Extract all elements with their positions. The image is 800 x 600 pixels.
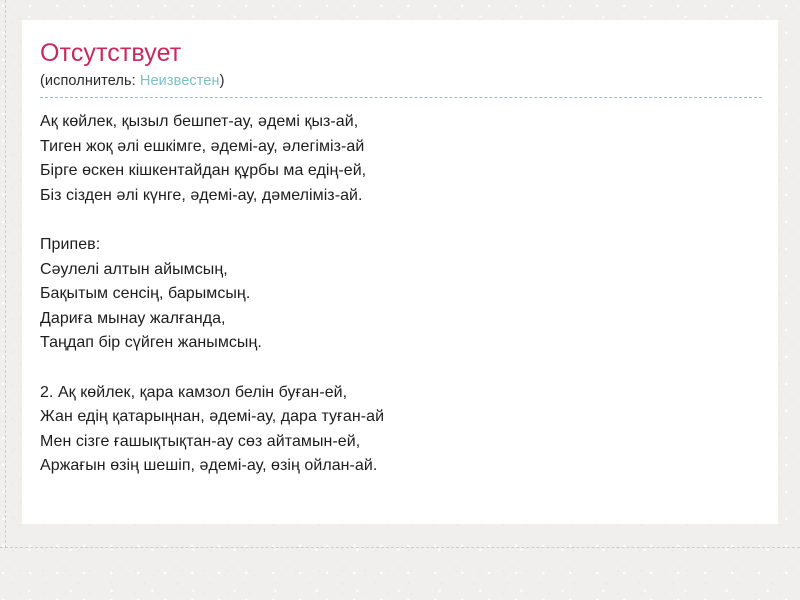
lyric-line: 2. Ақ көйлек, қара камзол белін буған-ей…	[40, 381, 760, 406]
lyric-line: Аржағын өзің шешіп, әдемі-ау, өзің ойлан…	[40, 454, 760, 479]
lyric-line: Бірге өскен кішкентайдан құрбы ма едің-е…	[40, 159, 760, 184]
lyric-line: Мен сізге ғашықтықтан-ау сөз айтамын-ей,	[40, 430, 760, 455]
lyrics-stanza-verse-2: 2. Ақ көйлек, қара камзол белін буған-ей…	[40, 381, 760, 479]
artist-link[interactable]: Неизвестен	[140, 73, 220, 89]
guide-line-bottom	[0, 547, 800, 548]
artist-label: (исполнитель:	[40, 73, 140, 89]
guide-line-left	[5, 0, 6, 548]
song-card-content: Отсутствует (исполнитель: Неизвестен) Ақ…	[40, 39, 760, 479]
song-card: Отсутствует (исполнитель: Неизвестен) Ақ…	[22, 20, 778, 524]
lyric-line: Припев:	[40, 233, 760, 258]
stanza-gap	[40, 356, 760, 381]
page-title: Отсутствует	[40, 39, 760, 68]
lyrics-stanza-chorus: Припев:Сәулелі алтын айымсың,Бақытым сен…	[40, 233, 760, 356]
title-divider	[40, 97, 762, 98]
lyrics-body: Ақ көйлек, қызыл бешпет-ау, әдемі қыз-ай…	[40, 110, 760, 479]
lyrics-stanza-verse-1: Ақ көйлек, қызыл бешпет-ау, әдемі қыз-ай…	[40, 110, 760, 208]
stanza-gap	[40, 209, 760, 234]
lyric-line: Біз сізден әлі күнге, әдемі-ау, дәмелімі…	[40, 184, 760, 209]
lyric-line: Дариға мынау жалғанда,	[40, 307, 760, 332]
lyric-line: Ақ көйлек, қызыл бешпет-ау, әдемі қыз-ай…	[40, 110, 760, 135]
artist-suffix: )	[220, 73, 225, 89]
lyric-line: Сәулелі алтын айымсың,	[40, 258, 760, 283]
lyric-line: Бақытым сенсің, барымсың.	[40, 282, 760, 307]
lyric-line: Таңдап бір сүйген жанымсың.	[40, 331, 760, 356]
artist-line: (исполнитель: Неизвестен)	[40, 73, 760, 90]
lyric-line: Жан едің қатарыңнан, әдемі-ау, дара туға…	[40, 405, 760, 430]
lyric-line: Тиген жоқ әлі ешкімге, әдемі-ау, әлегімі…	[40, 135, 760, 160]
